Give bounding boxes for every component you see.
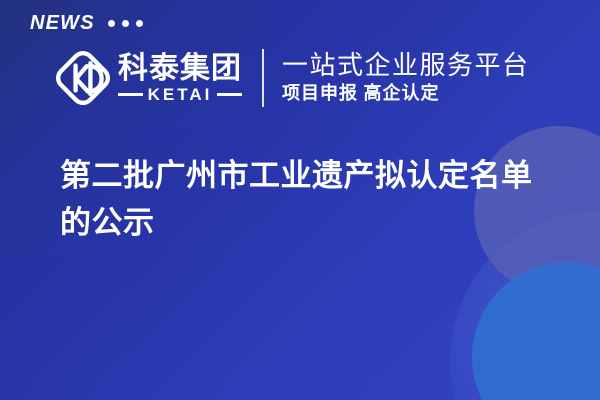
brand-name-en-row: KETAI bbox=[118, 86, 242, 103]
dot-icon bbox=[136, 20, 143, 27]
news-kicker: NEWS bbox=[30, 13, 143, 33]
news-banner: NEWS bbox=[0, 0, 600, 400]
tagline-block: 一站式企业服务平台 项目申报 高企认定 bbox=[282, 51, 530, 105]
brand-header: 科泰集团 KETAI 一站式企业服务平台 项目申报 高企认定 bbox=[52, 42, 530, 114]
brand-rule-left bbox=[118, 93, 143, 96]
dot-icon bbox=[108, 20, 115, 27]
tagline-sub: 项目申报 高企认定 bbox=[282, 83, 530, 105]
news-label: NEWS bbox=[30, 13, 95, 33]
brand-name-cn: 科泰集团 bbox=[118, 53, 242, 84]
brand-names: 科泰集团 KETAI bbox=[118, 53, 242, 102]
dot-icon bbox=[122, 20, 129, 27]
page-title: 第二批广州市工业遗产拟认定名单的公示 bbox=[60, 152, 560, 246]
brand-divider bbox=[262, 49, 264, 107]
ketai-kd-diamond-logo-icon bbox=[52, 47, 114, 109]
brand-name-en: KETAI bbox=[148, 86, 213, 103]
brand-rule-right bbox=[217, 93, 242, 96]
tagline-main: 一站式企业服务平台 bbox=[282, 51, 530, 80]
news-dots-group bbox=[108, 20, 143, 27]
decorative-circle-bright-blue bbox=[472, 262, 600, 400]
